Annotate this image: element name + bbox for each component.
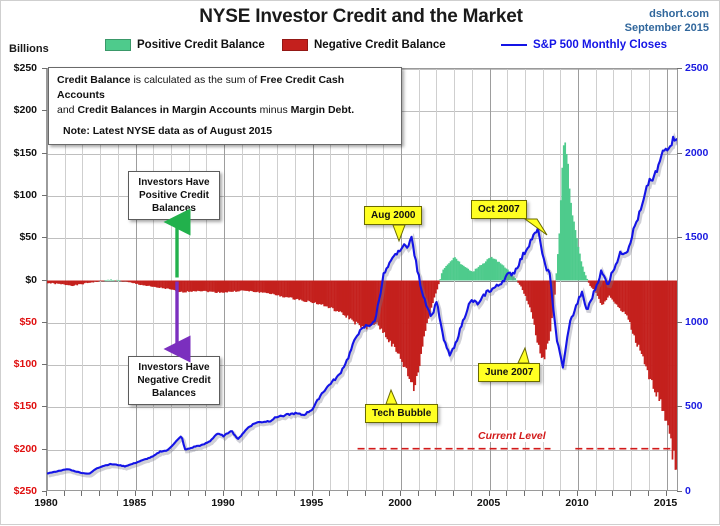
tick-mark — [677, 153, 682, 154]
gridline-v — [667, 69, 668, 490]
gridline-v — [525, 69, 526, 490]
tick-mark — [365, 491, 366, 496]
y-axis-unit-label: Billions — [9, 43, 49, 55]
y-axis-tick-right: 1500 — [685, 231, 720, 243]
tick-mark — [648, 491, 649, 496]
tick-mark — [524, 491, 525, 496]
y-axis-tick-right: 2500 — [685, 62, 720, 74]
note-text-1: is calculated as the sum of — [131, 74, 261, 86]
tick-mark — [276, 491, 277, 496]
legend-label-negative: Negative Credit Balance — [314, 39, 446, 51]
tick-mark — [677, 491, 682, 492]
x-axis-tick: 2015 — [654, 497, 677, 509]
tick-mark — [400, 491, 401, 496]
tick-mark — [170, 491, 171, 496]
chart-page: NYSE Investor Credit and the Market dsho… — [0, 0, 720, 525]
tick-mark — [418, 491, 419, 496]
callout-negative-balances: Investors Have Negative Credit Balances — [128, 356, 220, 405]
page-title: NYSE Investor Credit and the Market — [1, 6, 720, 28]
tick-mark — [46, 491, 47, 496]
tick-mark — [223, 491, 224, 496]
tick-mark — [42, 364, 47, 365]
flag-tech-bubble: Tech Bubble — [365, 404, 438, 423]
tick-mark — [471, 491, 472, 496]
tick-mark — [677, 68, 682, 69]
tick-mark — [612, 491, 613, 496]
note-latest-data: Note: Latest NYSE data as of August 2015 — [57, 124, 393, 139]
tick-mark — [677, 237, 682, 238]
y-axis-tick-right: 1000 — [685, 316, 720, 328]
tick-mark — [595, 491, 596, 496]
tick-mark — [506, 491, 507, 496]
y-axis-tick-left: $250 — [0, 62, 37, 74]
tick-mark — [630, 491, 631, 496]
definition-note-box: Credit Balance is calculated as the sum … — [48, 67, 402, 145]
tick-mark — [347, 491, 348, 496]
chart-legend: Positive Credit Balance Negative Credit … — [1, 39, 720, 55]
tick-mark — [382, 491, 383, 496]
tick-mark — [542, 491, 543, 496]
y-axis-tick-right: 500 — [685, 400, 720, 412]
tick-mark — [666, 491, 667, 496]
tick-mark — [42, 195, 47, 196]
x-axis-tick: 2005 — [477, 497, 500, 509]
gridline-h — [47, 238, 677, 239]
legend-swatch-positive-icon — [105, 39, 131, 51]
tick-mark — [677, 322, 682, 323]
tick-mark — [64, 491, 65, 496]
tick-mark — [42, 406, 47, 407]
tick-mark — [135, 491, 136, 496]
gridline-h — [47, 154, 677, 155]
tick-mark — [42, 153, 47, 154]
gridline-v — [649, 69, 650, 490]
gridline-v — [454, 69, 455, 490]
gridline-v — [472, 69, 473, 490]
tick-mark — [294, 491, 295, 496]
tick-mark — [453, 491, 454, 496]
tick-mark — [241, 491, 242, 496]
gridline-v — [560, 69, 561, 490]
tick-mark — [42, 449, 47, 450]
gridline-h — [47, 450, 677, 451]
gridline-v — [507, 69, 508, 490]
gridline-v — [596, 69, 597, 490]
tick-mark — [329, 491, 330, 496]
x-axis-tick: 2010 — [565, 497, 588, 509]
x-axis-tick: 1995 — [300, 497, 323, 509]
y-axis-tick-left: $200 — [0, 443, 37, 455]
note-term-credit-balance: Credit Balance — [57, 74, 131, 86]
tick-mark — [312, 491, 313, 496]
y-axis-tick-left: $150 — [0, 147, 37, 159]
y-axis-tick-left: $0 — [0, 274, 37, 286]
gridline-v — [613, 69, 614, 490]
y-axis-tick-left: $100 — [0, 358, 37, 370]
flag-aug-2000: Aug 2000 — [364, 206, 422, 225]
y-axis-tick-right: 0 — [685, 485, 720, 497]
tick-mark — [42, 280, 47, 281]
y-axis-tick-left: $150 — [0, 400, 37, 412]
gridline-v — [631, 69, 632, 490]
y-axis-tick-left: $100 — [0, 189, 37, 201]
flag-oct-2007: Oct 2007 — [471, 200, 527, 219]
tick-mark — [435, 491, 436, 496]
current-level-label: Current Level — [475, 430, 549, 442]
x-axis-tick: 1990 — [211, 497, 234, 509]
brand-date: September 2015 — [625, 21, 709, 35]
gridline-v — [578, 69, 579, 490]
tick-mark — [677, 406, 682, 407]
tick-mark — [577, 491, 578, 496]
brand-credit: dshort.com September 2015 — [625, 7, 709, 35]
legend-label-spx: S&P 500 Monthly Closes — [533, 39, 667, 51]
note-term-margin-accounts: Credit Balances in Margin Accounts — [77, 104, 256, 116]
legend-item-spx: S&P 500 Monthly Closes — [501, 39, 667, 51]
tick-mark — [559, 491, 560, 496]
callout-positive-balances: Investors Have Positive Credit Balances — [128, 171, 220, 220]
y-axis-tick-right: 2000 — [685, 147, 720, 159]
tick-mark — [117, 491, 118, 496]
tick-mark — [489, 491, 490, 496]
tick-mark — [205, 491, 206, 496]
legend-line-spx-icon — [501, 44, 527, 46]
tick-mark — [81, 491, 82, 496]
gridline-h — [47, 281, 677, 282]
y-axis-tick-left: $250 — [0, 485, 37, 497]
x-axis-tick: 1980 — [34, 497, 57, 509]
gridline-v — [436, 69, 437, 490]
gridline-h — [47, 407, 677, 408]
tick-mark — [42, 322, 47, 323]
x-axis-tick: 1985 — [123, 497, 146, 509]
y-axis-tick-left: $50 — [0, 231, 37, 243]
tick-mark — [188, 491, 189, 496]
tick-mark — [152, 491, 153, 496]
x-axis-tick: 2000 — [388, 497, 411, 509]
legend-swatch-negative-icon — [282, 39, 308, 51]
brand-name: dshort.com — [625, 7, 709, 21]
gridline-h — [47, 323, 677, 324]
gridline-v — [419, 69, 420, 490]
tick-mark — [42, 110, 47, 111]
note-text-3: minus — [257, 104, 291, 116]
note-text-2: and — [57, 104, 77, 116]
tick-mark — [42, 68, 47, 69]
flag-june-2007: June 2007 — [478, 363, 540, 382]
legend-item-negative: Negative Credit Balance — [282, 39, 446, 51]
legend-label-positive: Positive Credit Balance — [137, 39, 265, 51]
legend-item-positive: Positive Credit Balance — [105, 39, 265, 51]
note-term-margin-debt: Margin Debt. — [291, 104, 355, 116]
tick-mark — [258, 491, 259, 496]
y-axis-tick-left: $200 — [0, 104, 37, 116]
gridline-v — [490, 69, 491, 490]
tick-mark — [42, 237, 47, 238]
tick-mark — [99, 491, 100, 496]
gridline-v — [543, 69, 544, 490]
y-axis-tick-left: $50 — [0, 316, 37, 328]
